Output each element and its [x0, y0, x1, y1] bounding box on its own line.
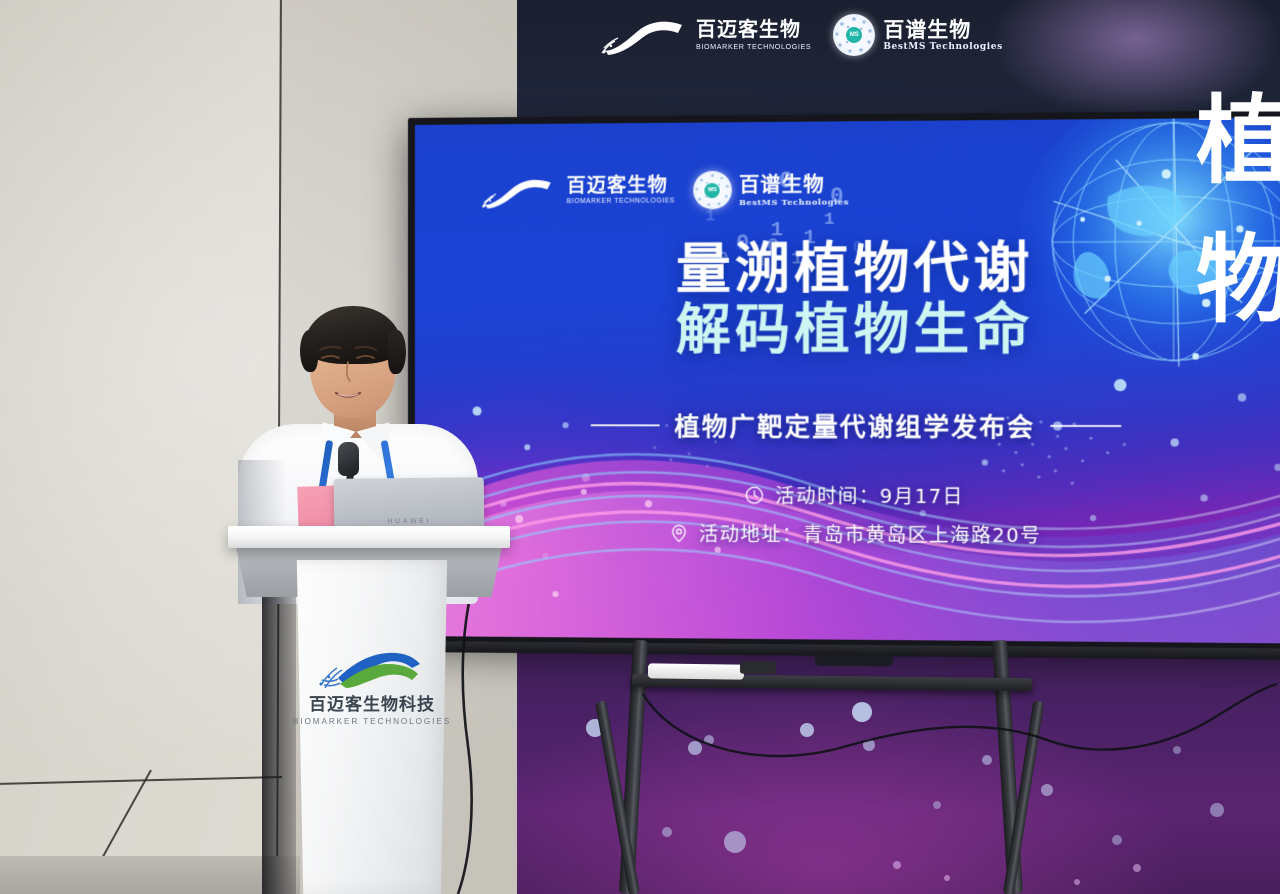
dna-arc-icon [477, 174, 559, 209]
backdrop-logo-bestms: MS 百谱生物 BestMS Technologies [833, 14, 1002, 56]
slide-title-line2: 解码植物生命 [415, 299, 1280, 362]
podium-side-shadow [262, 560, 296, 894]
slide-meta-time-text: 活动时间：9月17日 [775, 481, 964, 509]
podium-logo-en: BIOMARKER TECHNOLOGIES [293, 717, 451, 726]
podium-logo-cn: 百迈客生物科技 [309, 690, 435, 715]
slide-meta-address-text: 活动地址：青岛市黄岛区上海路20号 [699, 519, 1042, 548]
podium-column [292, 560, 452, 894]
conference-photo-scene: 百迈客生物 BIOMARKER TECHNOLOGIES MS 百谱生物 [0, 0, 1280, 894]
backdrop-logo-row: 百迈客生物 BIOMARKER TECHNOLOGIES MS 百谱生物 [600, 14, 1003, 56]
cables [517, 600, 1280, 894]
slide-subtitle-row: 植物广靶定量代谢组学发布会 [415, 407, 1280, 445]
dna-arc-icon [316, 644, 428, 688]
slide-logo-row: 百迈客生物 BIOMARKER TECHNOLOGIES [477, 170, 849, 211]
slide-logo-biomarker: 百迈客生物 BIOMARKER TECHNOLOGIES [477, 173, 675, 208]
laptop-brand-label: HUAWEI [334, 517, 484, 526]
backdrop-logo-bestms-cn: 百谱生物 [883, 19, 1002, 40]
slide-headline: 量溯植物代谢 解码植物生命 [415, 237, 1280, 362]
backdrop-logo-biomarker-en: BIOMARKER TECHNOLOGIES [696, 43, 811, 50]
subtitle-rule-left [591, 424, 660, 426]
ms-molecule-icon: MS [693, 171, 732, 210]
subtitle-rule-right [1050, 425, 1121, 427]
slide-subtitle: 植物广靶定量代谢组学发布会 [674, 407, 1035, 444]
backdrop-logo-biomarker-cn: 百迈客生物 [696, 20, 811, 40]
slide-title-line1: 量溯植物代谢 [415, 237, 1280, 302]
presenter-face [302, 310, 406, 430]
backdrop-partial-text: 植物 [1196, 72, 1280, 350]
slide-logo-bestms-cn: 百谱生物 [739, 174, 849, 195]
backdrop-logo-bestms-en: BestMS Technologies [883, 43, 1002, 52]
slide-meta-time: 活动时间：9月17日 [745, 481, 964, 509]
podium-desktop [228, 526, 510, 548]
floor-strip [0, 856, 300, 894]
location-pin-icon [668, 523, 688, 543]
clock-icon [745, 485, 765, 505]
microphone-head [338, 442, 359, 476]
slide-logo-biomarker-cn: 百迈客生物 [567, 176, 675, 196]
slide-logo-biomarker-en: BIOMARKER TECHNOLOGIES [567, 198, 675, 205]
slide-logo-bestms: MS 百谱生物 BestMS Technologies [693, 170, 849, 209]
ms-molecule-icon: MS [833, 14, 875, 56]
dna-arc-icon [600, 15, 688, 55]
laptop: HUAWEI [334, 477, 485, 531]
backdrop-logo-biomarker: 百迈客生物 BIOMARKER TECHNOLOGIES [600, 15, 811, 55]
slide-meta-address: 活动地址：青岛市黄岛区上海路20号 [668, 519, 1041, 548]
podium-logo: 百迈客生物科技 BIOMARKER TECHNOLOGIES [292, 644, 452, 726]
slide-logo-bestms-en: BestMS Technologies [739, 197, 849, 206]
